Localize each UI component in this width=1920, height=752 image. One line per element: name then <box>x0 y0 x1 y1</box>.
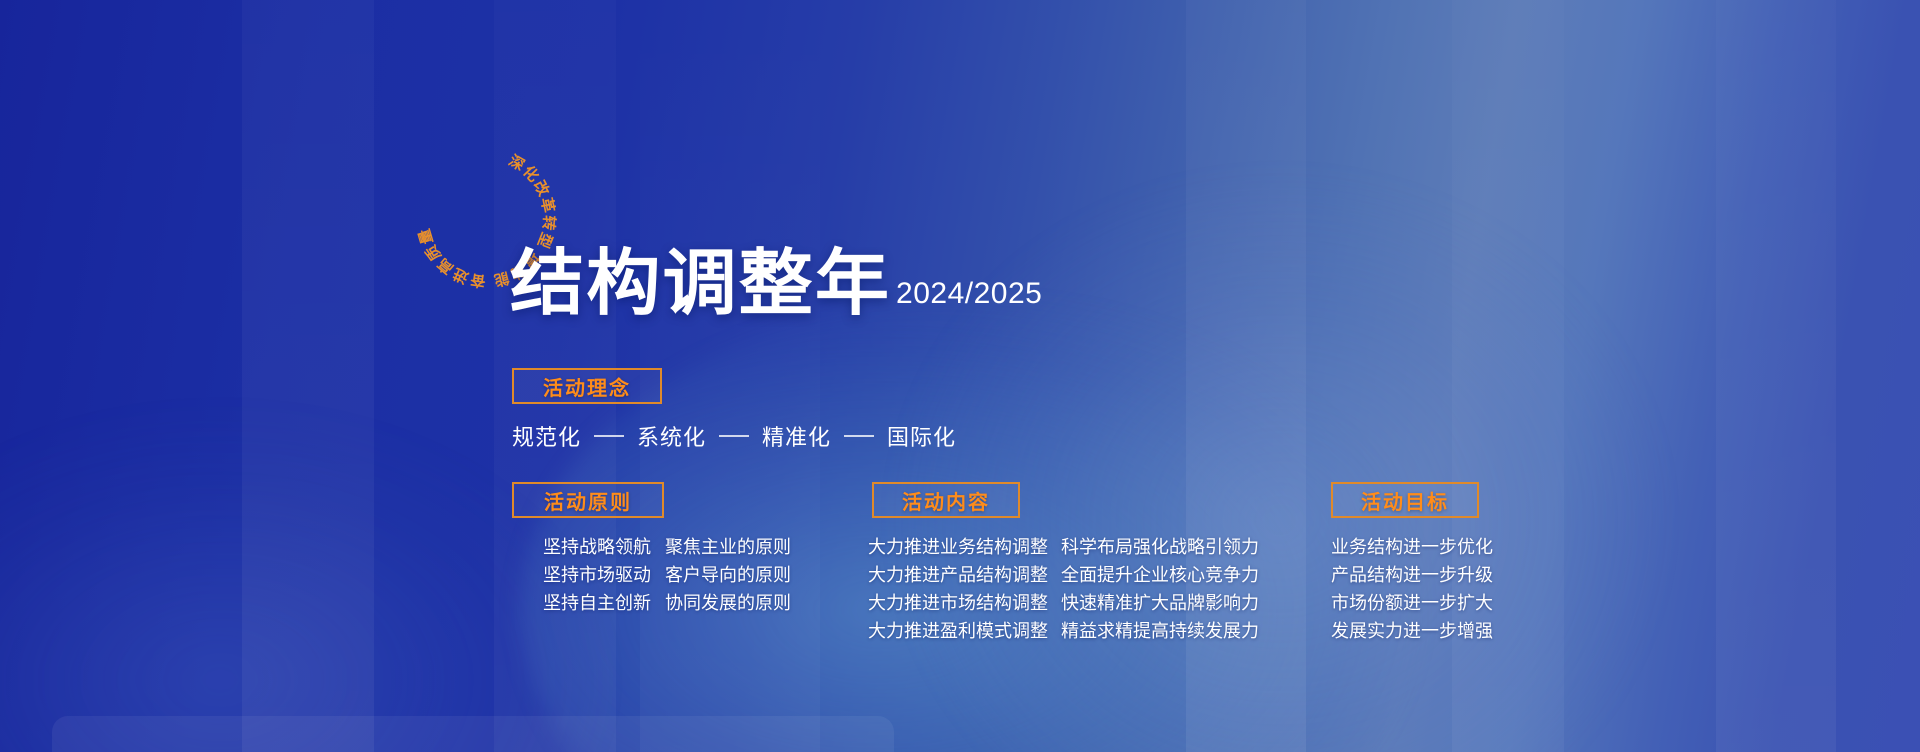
content-row-right: 快速精准扩大品牌影响力 <box>1061 590 1259 618</box>
concept-item-2: 系统化 <box>637 420 706 452</box>
column-goal: 业务结构进一步优化 产品结构进一步升级 市场份额进一步扩大 发展实力进一步增强 <box>1331 534 1493 646</box>
banner-stage: 深化改革转型 增动能 奋进高质量 发展新征程 结构调整年 2024/2025 活… <box>0 0 1920 752</box>
content-row-left: 大力推进业务结构调整 <box>868 534 1048 562</box>
principle-row: 坚持自主创新 协同发展的原则 <box>543 590 791 618</box>
chain-dash-icon-2 <box>719 435 749 437</box>
goal-row-text: 市场份额进一步扩大 <box>1331 590 1493 618</box>
principle-row-left: 坚持战略领航 <box>543 534 651 562</box>
chain-dash-icon-3 <box>844 435 874 437</box>
principle-row: 坚持市场驱动 客户导向的原则 <box>543 562 791 590</box>
badge-activity-concept: 活动理念 <box>512 368 662 404</box>
content-row-left: 大力推进盈利模式调整 <box>868 618 1048 646</box>
badge-activity-principle: 活动原则 <box>512 482 664 518</box>
goal-row: 发展实力进一步增强 <box>1331 618 1493 646</box>
content-row-left: 大力推进产品结构调整 <box>868 562 1048 590</box>
content-row: 大力推进业务结构调整 科学布局强化战略引领力 <box>868 534 1259 562</box>
title-row: 结构调整年 2024/2025 <box>510 248 1042 319</box>
principle-row-left: 坚持市场驱动 <box>543 562 651 590</box>
page-title: 结构调整年 <box>510 248 891 319</box>
column-principle: 坚持战略领航 聚焦主业的原则 坚持市场驱动 客户导向的原则 坚持自主创新 协同发… <box>543 534 791 618</box>
concept-item-1: 规范化 <box>512 420 581 452</box>
principle-row-right: 协同发展的原则 <box>665 590 791 618</box>
content-row-left: 大力推进市场结构调整 <box>868 590 1048 618</box>
content-row: 大力推进产品结构调整 全面提升企业核心竞争力 <box>868 562 1259 590</box>
title-year-range: 2024/2025 <box>896 277 1042 319</box>
column-content: 大力推进业务结构调整 科学布局强化战略引领力 大力推进产品结构调整 全面提升企业… <box>868 534 1259 646</box>
banner-content: 深化改革转型 增动能 奋进高质量 发展新征程 结构调整年 2024/2025 活… <box>0 0 1920 752</box>
goal-row-text: 业务结构进一步优化 <box>1331 534 1493 562</box>
principle-row-right: 客户导向的原则 <box>665 562 791 590</box>
concept-item-4: 国际化 <box>887 420 956 452</box>
concept-chain: 规范化 系统化 精准化 国际化 <box>512 420 956 452</box>
goal-row-text: 发展实力进一步增强 <box>1331 618 1493 646</box>
content-row: 大力推进市场结构调整 快速精准扩大品牌影响力 <box>868 590 1259 618</box>
principle-row-right: 聚焦主业的原则 <box>665 534 791 562</box>
content-row-right: 科学布局强化战略引领力 <box>1061 534 1259 562</box>
badge-activity-content: 活动内容 <box>872 482 1020 518</box>
goal-row: 业务结构进一步优化 <box>1331 534 1493 562</box>
principle-row: 坚持战略领航 聚焦主业的原则 <box>543 534 791 562</box>
concept-item-3: 精准化 <box>762 420 831 452</box>
chain-dash-icon-1 <box>594 435 624 437</box>
content-row-right: 精益求精提高持续发展力 <box>1061 618 1259 646</box>
badge-activity-goal: 活动目标 <box>1331 482 1479 518</box>
principle-row-left: 坚持自主创新 <box>543 590 651 618</box>
content-row: 大力推进盈利模式调整 精益求精提高持续发展力 <box>868 618 1259 646</box>
goal-row-text: 产品结构进一步升级 <box>1331 562 1493 590</box>
goal-row: 产品结构进一步升级 <box>1331 562 1493 590</box>
goal-row: 市场份额进一步扩大 <box>1331 590 1493 618</box>
content-row-right: 全面提升企业核心竞争力 <box>1061 562 1259 590</box>
